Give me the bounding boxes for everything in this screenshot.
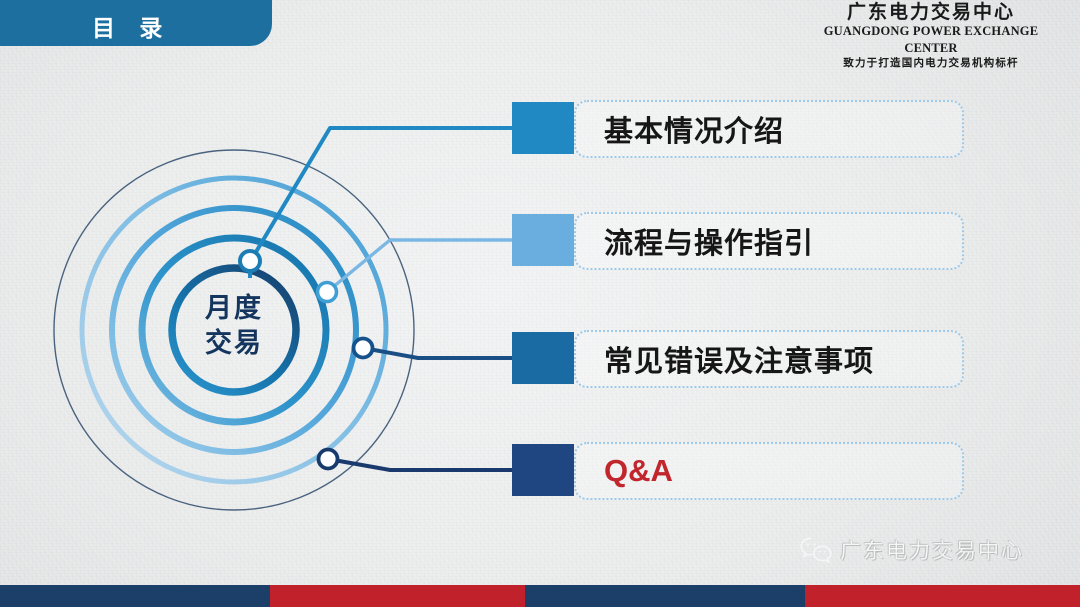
wechat-watermark: 广东电力交易中心 xyxy=(799,535,1024,565)
diagram-node-4 xyxy=(319,450,338,469)
toc-item-2-label: 流程与操作指引 xyxy=(604,220,814,262)
logo-name-cn: 广东电力交易中心 xyxy=(800,2,1062,23)
logo-tagline: 致力于打造国内电力交易机构标杆 xyxy=(800,57,1062,71)
page-title: 目 录 xyxy=(92,9,171,43)
connector-line-4 xyxy=(328,459,512,470)
organization-logo: 广东电力交易中心 GUANGDONG POWER EXCHANGE CENTER… xyxy=(800,2,1062,70)
diagram-node-2 xyxy=(318,283,337,302)
footer-bar-segment-2 xyxy=(270,585,525,607)
diagram-node-1 xyxy=(240,251,260,271)
toc-item-2-marker xyxy=(512,214,574,266)
connector-line-2 xyxy=(327,240,512,292)
toc-item-4-label: Q&A xyxy=(604,453,673,489)
footer-bar-segment-4 xyxy=(805,585,1080,607)
toc-item-3-marker xyxy=(512,332,574,384)
toc-item-3-label: 常见错误及注意事项 xyxy=(604,338,874,380)
footer-color-bar xyxy=(0,585,1080,607)
slide-canvas: 月度 交易 目 录 广东电力交易中心 GUANGDONG POWER EXCHA… xyxy=(0,0,1080,607)
logo-name-en: GUANGDONG POWER EXCHANGE CENTER xyxy=(800,23,1062,57)
ring-3 xyxy=(112,208,356,452)
watermark-label: 广东电力交易中心 xyxy=(840,535,1024,565)
toc-item-1-marker xyxy=(512,102,574,154)
diagram-node-3 xyxy=(354,339,373,358)
monthly-trading-diagram xyxy=(0,0,1080,607)
footer-bar-segment-3 xyxy=(525,585,805,607)
toc-item-1-label: 基本情况介绍 xyxy=(604,108,784,150)
ring-2 xyxy=(82,178,386,482)
ring-inner xyxy=(172,268,296,392)
ring-outer-hairline xyxy=(54,150,414,510)
wechat-icon xyxy=(799,536,833,564)
toc-item-4-marker xyxy=(512,444,574,496)
footer-bar-segment-1 xyxy=(0,585,270,607)
